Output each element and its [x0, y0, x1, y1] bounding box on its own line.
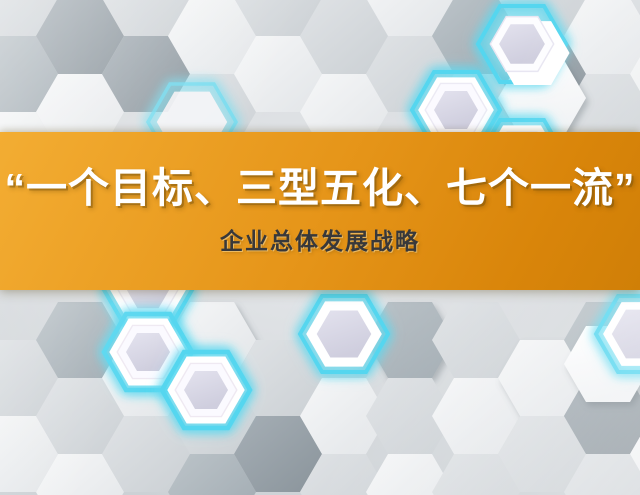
slide-subtitle: 企业总体发展战略	[0, 228, 640, 256]
title-banner: “一个目标、三型五化、七个一流” 企业总体发展战略	[0, 132, 640, 290]
slide-title: “一个目标、三型五化、七个一流”	[0, 166, 640, 212]
banner-content: “一个目标、三型五化、七个一流” 企业总体发展战略	[0, 166, 640, 256]
title-slide: “一个目标、三型五化、七个一流” 企业总体发展战略	[0, 0, 640, 495]
